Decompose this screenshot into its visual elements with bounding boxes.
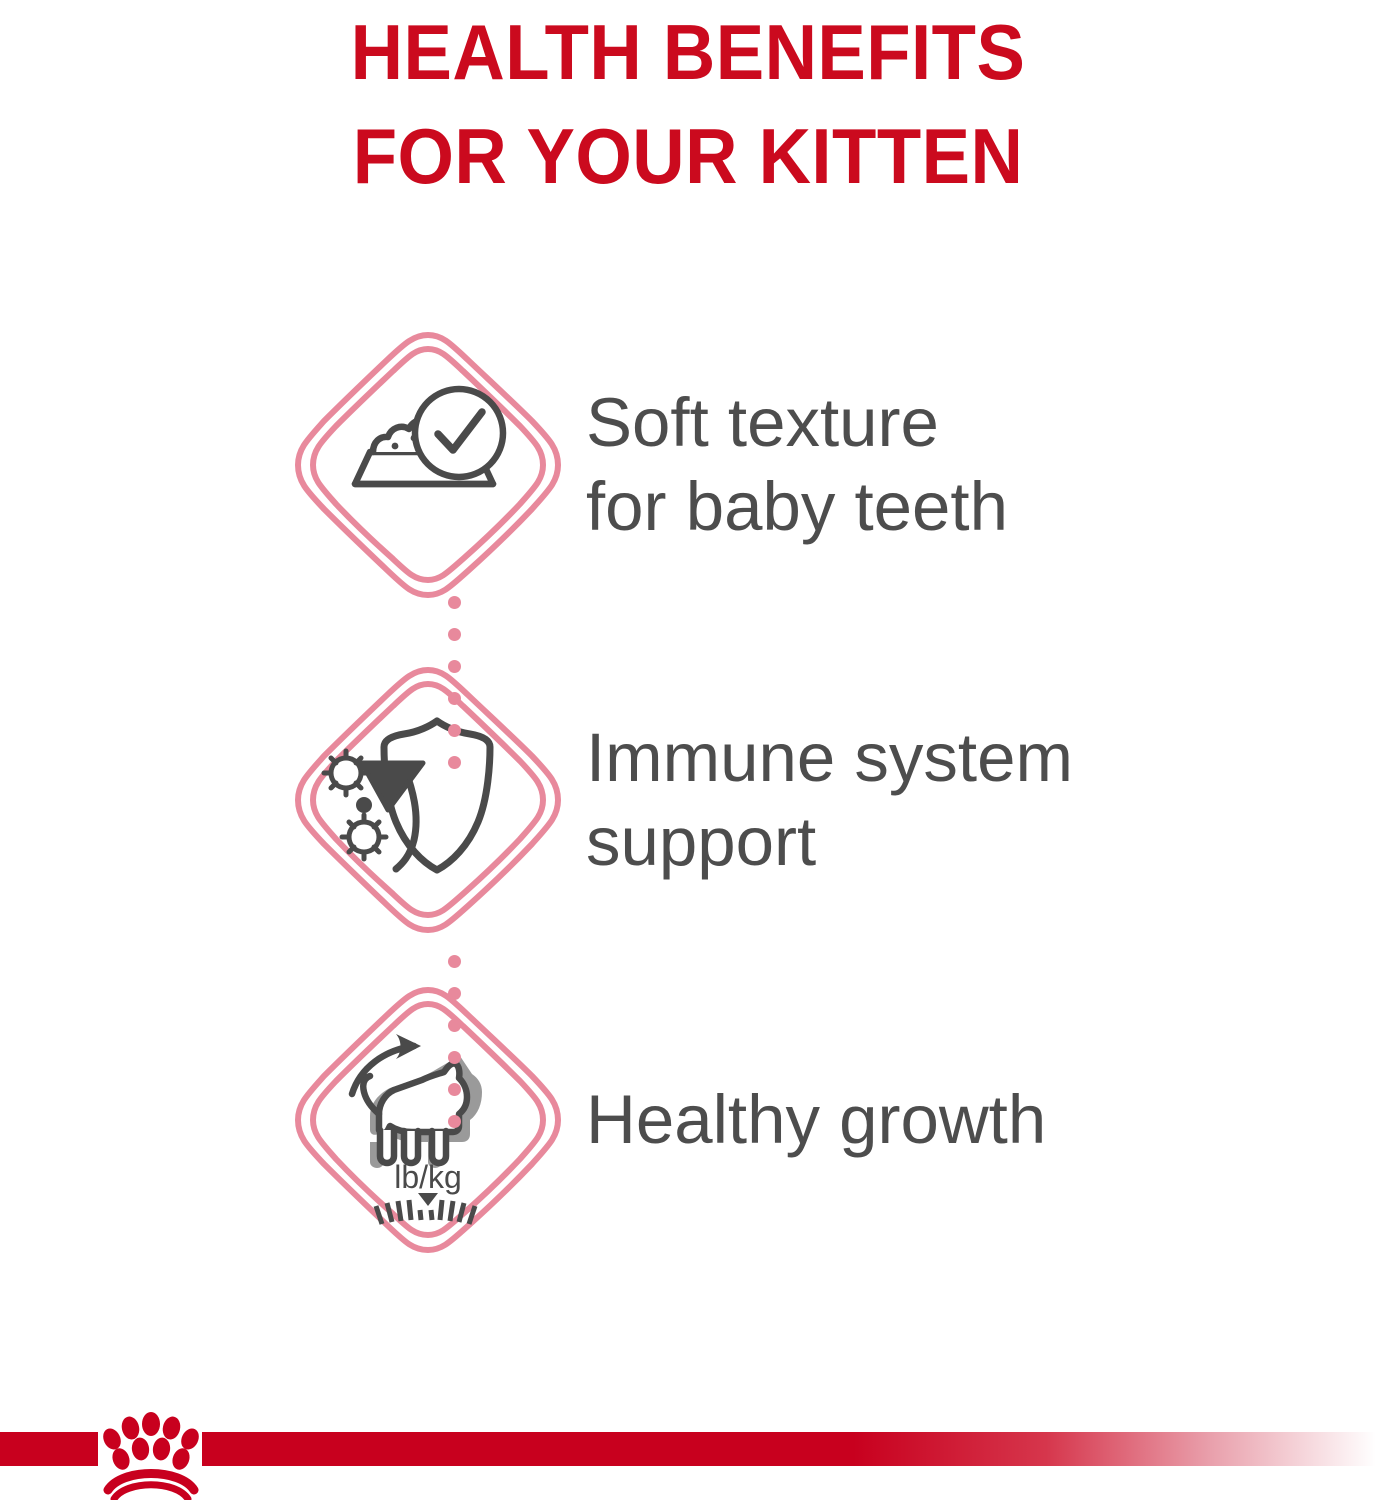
scale-unit-label: lb/kg: [394, 1159, 462, 1195]
connector-dot: [448, 692, 461, 705]
connector-dot: [448, 1051, 461, 1064]
connector-dots-1-2: [447, 596, 461, 769]
benefit-item-healthy-growth: lb/kg Healthy growth: [0, 970, 1376, 1270]
shield-germs-icon: [278, 650, 578, 950]
connector-dots-2-3: [447, 955, 461, 1128]
cat-weight-scale-icon: lb/kg: [278, 970, 578, 1270]
connector-dot: [448, 955, 461, 968]
page-title-line-1: HEALTH BENEFITS: [48, 0, 1328, 104]
royal-canin-crown-logo: [96, 1404, 206, 1500]
connector-dot: [448, 1019, 461, 1032]
benefit-label-immune-system: Immune system support: [578, 716, 1286, 884]
connector-dot: [448, 596, 461, 609]
benefit-item-soft-texture: Soft texture for baby teeth: [0, 300, 1376, 630]
connector-dot: [448, 756, 461, 769]
connector-dot: [448, 987, 461, 1000]
connector-dot: [448, 628, 461, 641]
footer-red-bar: [0, 1432, 1376, 1466]
connector-dot: [448, 660, 461, 673]
benefit-label-soft-texture: Soft texture for baby teeth: [578, 381, 1286, 549]
connector-dot: [448, 1083, 461, 1096]
page-title: HEALTH BENEFITS FOR YOUR KITTEN: [0, 0, 1376, 208]
benefits-list: Soft texture for baby teeth: [0, 300, 1376, 1270]
connector-dot: [448, 724, 461, 737]
page-title-line-2: FOR YOUR KITTEN: [48, 104, 1328, 208]
benefit-item-immune-system: Immune system support: [0, 630, 1376, 970]
footer: [0, 1390, 1376, 1500]
benefit-label-healthy-growth: Healthy growth: [578, 1078, 1286, 1162]
connector-dot: [448, 1115, 461, 1128]
food-bowl-check-icon: [278, 315, 578, 615]
